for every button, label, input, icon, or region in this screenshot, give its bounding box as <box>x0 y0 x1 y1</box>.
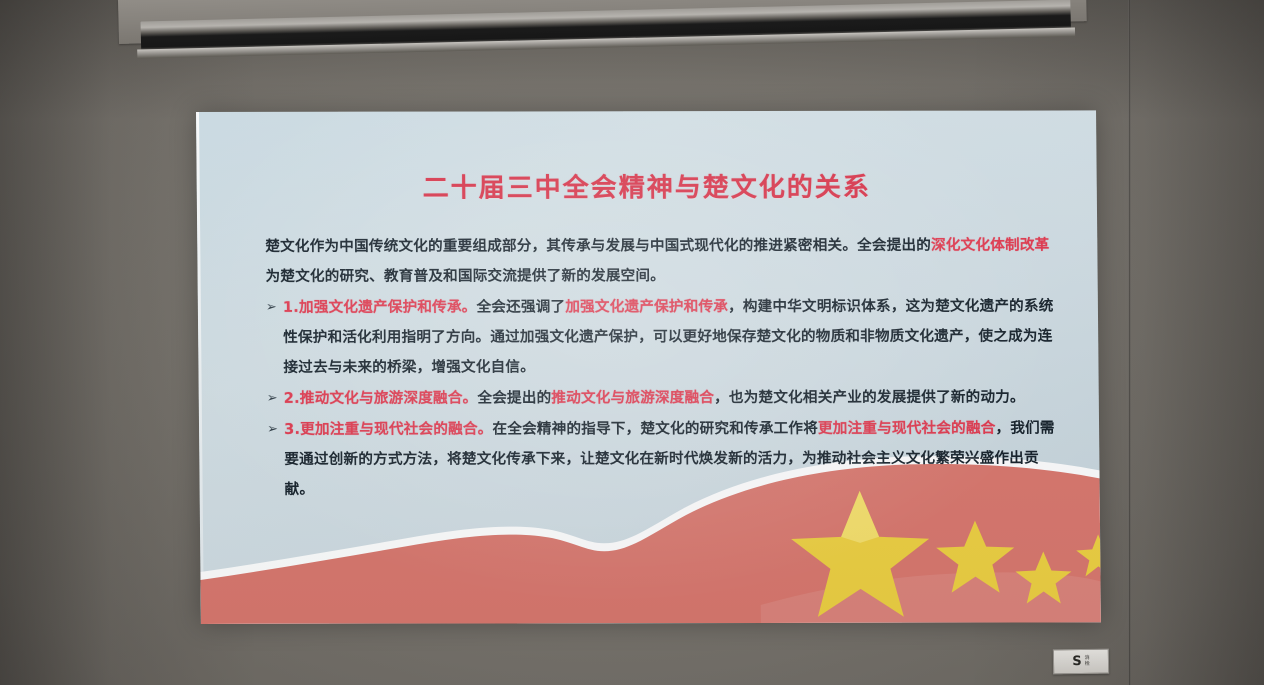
bullet-item-2: ➢ 2.推动文化与旅游深度融合。全会提出的推动文化与旅游深度融合，也为楚文化相关… <box>267 382 1055 413</box>
bullet-2-number: 2. <box>284 390 300 407</box>
bullet-3-body: 3.更加注重与现代社会的融合。在全会精神的指导下，楚文化的研究和传承工作将更加注… <box>284 413 1056 504</box>
wall-seam <box>1128 0 1131 685</box>
arrow-bullet-icon: ➢ <box>267 384 284 414</box>
projector-screen-housing: Redleaf <box>118 0 1087 72</box>
bullet-1-body: 1.加强文化遗产保护和传承。全会还强调了加强文化遗产保护和传承，构建中华文明标识… <box>283 291 1055 382</box>
slide-body: 楚文化作为中国传统文化的重要组成部分，其传承与发展与中国式现代化的推进紧密相关。… <box>265 231 1056 505</box>
bullet-1-segment-1: 全会还强调了 <box>476 298 565 315</box>
bullet-2-inline-highlight: 推动文化与旅游深度融合 <box>551 389 714 406</box>
bullet-item-1: ➢ 1.加强文化遗产保护和传承。全会还强调了加强文化遗产保护和传承，构建中华文明… <box>266 291 1055 382</box>
classroom-scene: Redleaf <box>0 0 1264 685</box>
plate-sub-line-2: 栓 <box>1085 660 1090 666</box>
intro-text-after: 为楚文化的研究、教育普及和国际交流提供了新的发展空间。 <box>265 267 665 285</box>
plate-mark-icon: S <box>1072 655 1082 668</box>
slide-title: 二十届三中全会精神与楚文化的关系 <box>197 166 1097 205</box>
arrow-bullet-icon: ➢ <box>266 293 283 323</box>
projected-slide-frame: 二十届三中全会精神与楚文化的关系 楚文化作为中国传统文化的重要组成部分，其传承与… <box>196 110 1101 624</box>
bullet-3-inline-highlight: 更加注重与现代社会的融合 <box>818 420 996 437</box>
bullet-1-lead-highlight: 加强文化遗产保护和传承。 <box>299 299 477 316</box>
bullet-3-number: 3. <box>284 421 300 438</box>
bullet-item-3: ➢ 3.更加注重与现代社会的融合。在全会精神的指导下，楚文化的研究和传承工作将更… <box>267 413 1056 504</box>
bullet-1-inline-highlight: 加强文化遗产保护和传承 <box>565 298 728 315</box>
intro-highlight: 深化文化体制改革 <box>931 237 1050 254</box>
intro-text-before: 楚文化作为中国传统文化的重要组成部分，其传承与发展与中国式现代化的推进紧密相关。… <box>265 237 931 255</box>
intro-paragraph: 楚文化作为中国传统文化的重要组成部分，其传承与发展与中国式现代化的推进紧密相关。… <box>265 231 1054 292</box>
bullet-2-segment-2: ，也为楚文化相关产业的发展提供了新的动力。 <box>714 389 1025 407</box>
bullet-3-lead-highlight: 更加注重与现代社会的融合。 <box>300 420 492 437</box>
bullet-2-lead-highlight: 推动文化与旅游深度融合。 <box>300 390 478 407</box>
bullet-1-number: 1. <box>283 299 299 316</box>
bullet-2-body: 2.推动文化与旅游深度融合。全会提出的推动文化与旅游深度融合，也为楚文化相关产业… <box>284 382 1055 413</box>
plate-sub-text: 消 栓 <box>1085 656 1090 668</box>
bullet-3-segment-1: 在全会精神的指导下，楚文化的研究和传承工作将 <box>492 420 818 438</box>
bullet-2-segment-1: 全会提出的 <box>477 389 551 406</box>
wall-plate-sign: S 消 栓 <box>1053 649 1109 675</box>
presentation-slide: 二十届三中全会精神与楚文化的关系 楚文化作为中国传统文化的重要组成部分，其传承与… <box>196 110 1101 624</box>
arrow-bullet-icon: ➢ <box>267 415 284 445</box>
